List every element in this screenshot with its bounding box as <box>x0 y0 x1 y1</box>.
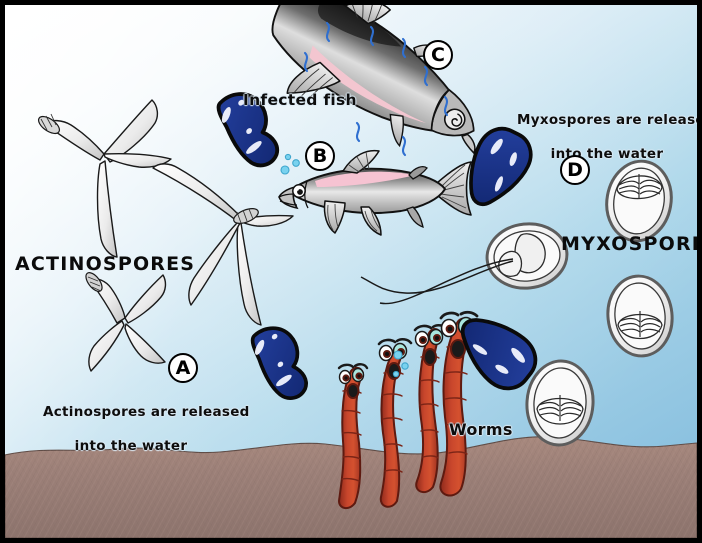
myxospores-released-caption: Myxospores are released into the water <box>497 95 697 179</box>
infected-fish-label: Infected fish <box>243 91 357 110</box>
step-marker-c: C <box>423 40 453 70</box>
actinospores-heading: ACTINOSPORES <box>15 253 195 275</box>
arrow-worms-ingest-myxospores <box>447 305 545 398</box>
step-marker-a: A <box>168 353 198 383</box>
actinospores-released-line2: into the water <box>75 438 188 454</box>
myxospores-heading: MYXOSPORES <box>561 233 697 255</box>
actinospores-released-caption: Actinospores are released into the water <box>23 387 219 471</box>
arrow-actinospores-released <box>239 318 324 405</box>
step-marker-b: B <box>305 141 335 171</box>
actinospores-released-line1: Actinospores are released <box>43 404 250 420</box>
life-cycle-scene: ACTINOSPORES MYXOSPORES Infected fish Wo… <box>5 5 697 538</box>
myxospores-released-line1: Myxospores are released <box>517 112 697 128</box>
figure-frame: ACTINOSPORES MYXOSPORES Infected fish Wo… <box>0 0 702 543</box>
worms-label: Worms <box>449 420 513 440</box>
step-marker-d: D <box>560 155 590 185</box>
